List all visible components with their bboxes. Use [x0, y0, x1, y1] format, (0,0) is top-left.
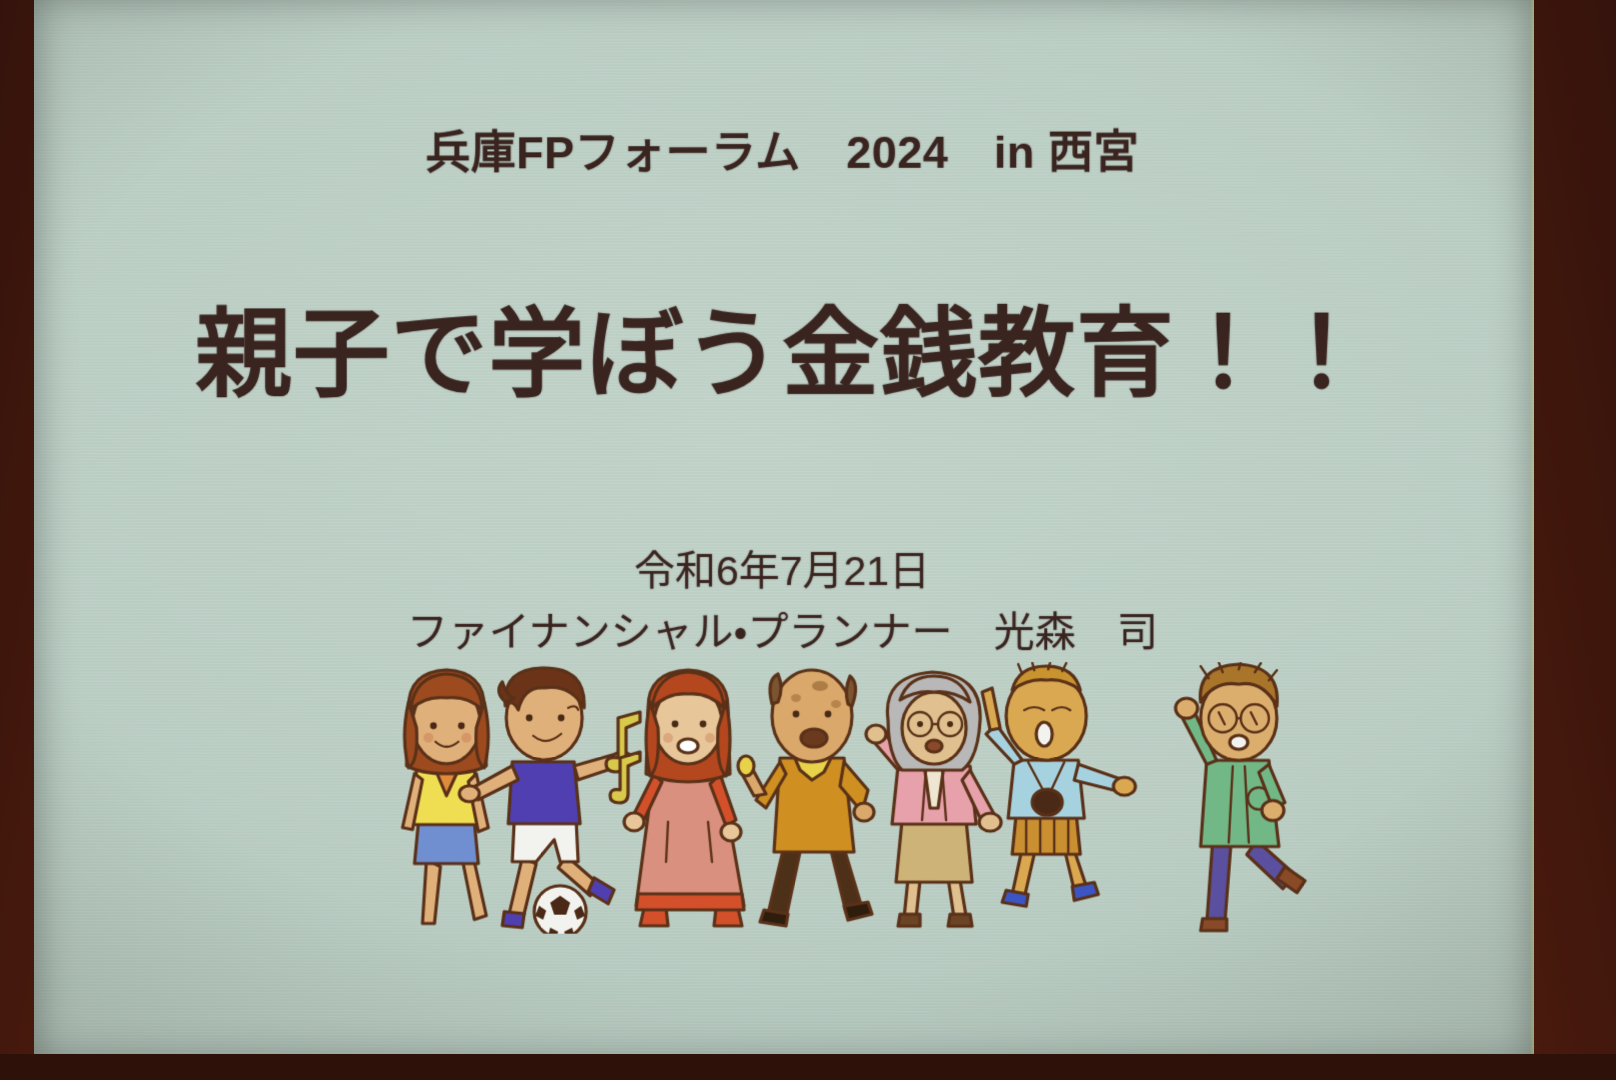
figure-older-man-gold-shirt	[738, 670, 874, 926]
figure-grandmother-pink-cardigan	[866, 672, 1001, 926]
illustration-seven-people: .ol { stroke:#5a3118; stroke-width:3.2; …	[323, 662, 1333, 935]
projection-room: 兵庫FPフォーラム 2024 in 西宮 親子で学ぼう金銭教育！！ 令和6年7月…	[0, 0, 1616, 1080]
figure-man-green-shirt-glasses	[1176, 662, 1305, 931]
figure-boy-blue-shirt-bag	[982, 662, 1135, 906]
wall-right	[1526, 0, 1616, 1080]
projection-screen: 兵庫FPフォーラム 2024 in 西宮 親子で学ぼう金銭教育！！ 令和6年7月…	[34, 0, 1534, 1067]
presentation-slide: 兵庫FPフォーラム 2024 in 西宮 親子で学ぼう金銭教育！！ 令和6年7月…	[34, 0, 1534, 1067]
illustration-svg: .ol { stroke:#5a3118; stroke-width:3.2; …	[323, 662, 1333, 935]
slide-presenter-line: ファイナンシャル・プランナー 光森 司	[34, 598, 1534, 659]
figure-woman-pink-dress	[610, 670, 744, 926]
slide-main-title: 親子で学ぼう金銭教育！！	[34, 273, 1534, 415]
slide-date-line: 令和6年7月21日	[34, 537, 1534, 597]
wall-bottom	[0, 1054, 1616, 1080]
slide-header-line: 兵庫FPフォーラム 2024 in 西宮	[34, 115, 1534, 182]
prop-soccer-ball	[534, 886, 586, 935]
